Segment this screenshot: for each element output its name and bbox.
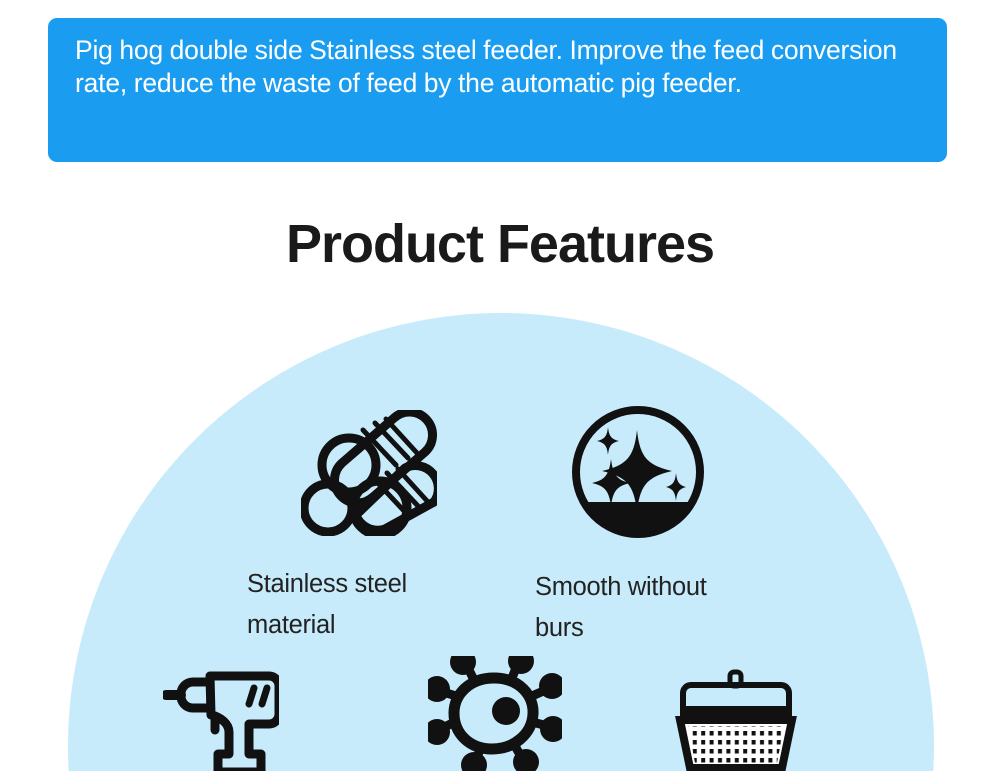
product-description-banner: Pig hog double side Stainless steel feed… — [48, 18, 947, 162]
feature-germ-resistant — [428, 656, 562, 771]
feature-label: Stainless steel material — [247, 564, 487, 646]
power-drill-icon — [163, 668, 279, 771]
sparkle-circle-icon — [571, 405, 785, 544]
product-features-page: Pig hog double side Stainless steel feed… — [0, 0, 1000, 771]
feature-power-drill — [163, 668, 279, 771]
page-title: Product Features — [0, 213, 1000, 275]
feature-stainless-steel-material: Stainless steel material — [247, 410, 487, 646]
perforated-basket-icon — [666, 666, 806, 771]
feature-label: Smooth without burs — [535, 567, 785, 649]
product-description-text: Pig hog double side Stainless steel feed… — [75, 34, 923, 100]
feature-smooth-without-burs: Smooth without burs — [535, 405, 785, 649]
stacked-pipes-icon — [301, 410, 487, 541]
germ-icon — [428, 656, 562, 771]
feature-perforated-basket — [666, 666, 806, 771]
